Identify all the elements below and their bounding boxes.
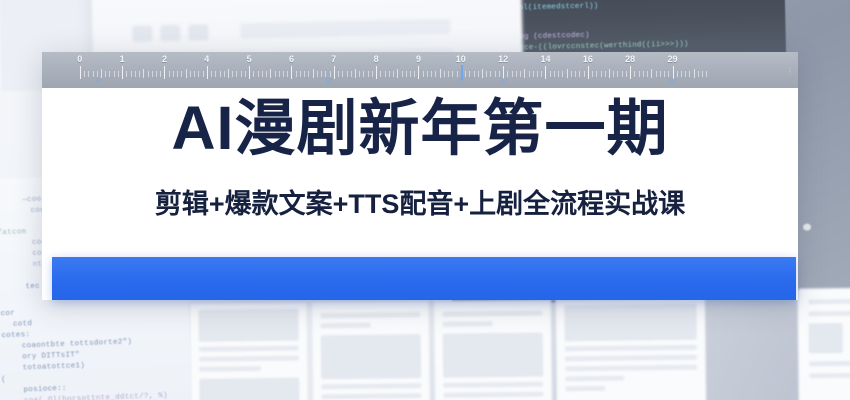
- ruler-major-tick: [291, 66, 292, 79]
- ruler-minor-tick: [414, 71, 415, 77]
- code-line: cotes:: [1, 331, 30, 340]
- ruler-major-tick: [376, 66, 377, 79]
- ruler-minor-tick: [266, 71, 267, 77]
- ruler-minor-tick: [651, 69, 652, 78]
- ruler-major-tick: [80, 66, 81, 79]
- ruler-minor-tick: [681, 71, 682, 77]
- ruler-marker-label: BI: [326, 78, 333, 85]
- ruler-minor-tick: [262, 71, 263, 77]
- ruler-minor-tick: [537, 71, 538, 77]
- ruler-minor-tick: [135, 71, 136, 77]
- code-line: cotd: [13, 320, 32, 329]
- ruler-minor-tick: [482, 69, 483, 78]
- poster-card: ⋮ 012456789101214162829AIBIAIBIBI AI漫剧新年…: [42, 52, 798, 300]
- ruler-minor-tick: [444, 71, 445, 77]
- ruler-minor-tick: [431, 71, 432, 77]
- ruler-minor-tick: [304, 71, 305, 77]
- ruler-minor-tick: [457, 71, 458, 77]
- toolbar-button-icon: [132, 26, 152, 42]
- ruler-major-tick: [207, 66, 208, 79]
- ruler-tick-label: 10: [456, 54, 466, 64]
- ruler-minor-tick: [529, 71, 530, 77]
- ruler-minor-tick: [143, 69, 144, 78]
- document-column: [189, 302, 308, 400]
- ruler-minor-tick: [550, 71, 551, 77]
- ruler-minor-tick: [516, 71, 517, 77]
- ruler-minor-tick: [317, 71, 318, 77]
- ruler-minor-tick: [228, 69, 229, 78]
- ruler-minor-tick: [342, 71, 343, 77]
- ruler-minor-tick: [512, 71, 513, 77]
- ruler-minor-tick: [300, 71, 301, 77]
- ruler-tick-label: 29: [667, 54, 677, 64]
- ruler-major-tick: [418, 66, 419, 79]
- ruler-minor-tick: [321, 71, 322, 77]
- ruler-minor-tick: [435, 71, 436, 77]
- ruler-major-tick: [545, 66, 546, 79]
- ruler-minor-tick: [410, 71, 411, 77]
- ruler-minor-tick: [474, 71, 475, 77]
- accent-bar: [52, 257, 796, 300]
- ruler-minor-tick: [427, 71, 428, 77]
- ruler-major-tick: [249, 66, 250, 79]
- ruler-tick-label: 28: [625, 54, 635, 64]
- ruler-minor-tick: [211, 71, 212, 77]
- ruler-minor-tick: [338, 71, 339, 77]
- document-column: [555, 298, 706, 400]
- ruler-minor-tick: [131, 71, 132, 77]
- ruler-minor-tick: [190, 71, 191, 77]
- toolbar-button-icon: [160, 25, 180, 41]
- ruler-minor-tick: [605, 71, 606, 77]
- ruler-minor-tick: [469, 71, 470, 77]
- ruler-minor-tick: [639, 71, 640, 77]
- ruler-minor-tick: [105, 71, 106, 77]
- ruler-minor-tick: [592, 71, 593, 77]
- ruler-minor-tick: [524, 69, 525, 78]
- ruler-tick-label: 0: [77, 54, 82, 64]
- ruler-minor-tick: [448, 71, 449, 77]
- ruler-minor-tick: [660, 71, 661, 77]
- code-line: —coo: [22, 196, 41, 205]
- poster-subtitle: 剪辑+爆款文案+TTS配音+上剧全流程实战课: [42, 190, 798, 220]
- ruler-minor-tick: [169, 71, 170, 77]
- ruler-minor-tick: [368, 71, 369, 77]
- ruler-minor-tick: [355, 69, 356, 78]
- poster-stage: 13 35 26 77 85 redisnl(itemedstcerl)) <(…: [0, 0, 850, 400]
- poster-title: AI漫剧新年第一期: [42, 98, 798, 159]
- window-toolbar: [132, 24, 208, 42]
- ruler-minor-tick: [393, 71, 394, 77]
- ruler-minor-tick: [275, 71, 276, 77]
- ruler-minor-tick: [126, 71, 127, 77]
- ruler-minor-tick: [236, 71, 237, 77]
- ruler-minor-tick: [351, 71, 352, 77]
- ruler-minor-tick: [689, 71, 690, 77]
- dot-icon: [803, 224, 811, 231]
- ruler-minor-tick: [380, 71, 381, 77]
- ruler-minor-tick: [241, 71, 242, 77]
- ruler-minor-tick: [486, 71, 487, 77]
- ruler-minor-tick: [626, 71, 627, 77]
- ruler-minor-tick: [406, 71, 407, 77]
- ruler-minor-tick: [84, 71, 85, 77]
- ruler-minor-tick: [402, 71, 403, 77]
- ruler-major-tick: [630, 66, 631, 79]
- ruler-minor-tick: [664, 71, 665, 77]
- ruler-minor-tick: [389, 71, 390, 77]
- ruler-minor-tick: [541, 71, 542, 77]
- ruler-minor-tick: [596, 71, 597, 77]
- ruler-minor-tick: [554, 71, 555, 77]
- ruler-major-tick: [334, 66, 335, 79]
- ruler-minor-tick: [440, 69, 441, 78]
- ruler-minor-tick: [148, 71, 149, 77]
- ruler-major-tick: [122, 66, 123, 79]
- document-column: [311, 301, 430, 400]
- background-document-columns: [149, 296, 850, 400]
- ruler-minor-tick: [220, 71, 221, 77]
- code-line: cor: [0, 310, 15, 319]
- ruler-minor-tick: [495, 71, 496, 77]
- ruler-minor-tick: [562, 71, 563, 77]
- ruler-minor-tick: [558, 71, 559, 77]
- ruler-minor-tick: [677, 71, 678, 77]
- ruler-minor-tick: [584, 71, 585, 77]
- ruler-minor-tick: [215, 71, 216, 77]
- ruler-minor-tick: [617, 71, 618, 77]
- ruler-minor-tick: [685, 71, 686, 77]
- ruler-minor-tick: [385, 71, 386, 77]
- ruler-tick-label: 8: [374, 54, 379, 64]
- ruler-minor-tick: [181, 71, 182, 77]
- ruler-tick-label: 14: [540, 54, 550, 64]
- ruler-minor-tick: [571, 71, 572, 77]
- ruler-minor-tick: [287, 71, 288, 77]
- ruler-minor-tick: [698, 71, 699, 77]
- ruler-minor-tick: [575, 71, 576, 77]
- ruler-marker-label: AI: [95, 78, 102, 85]
- ruler-minor-tick: [490, 71, 491, 77]
- code-line: posioce::: [23, 385, 66, 395]
- ruler-minor-tick: [232, 71, 233, 77]
- ruler-minor-tick: [177, 71, 178, 77]
- document-side-card: [797, 287, 850, 400]
- ruler-minor-tick: [270, 69, 271, 78]
- code-line: coaontbte tottsdorte2"): [22, 338, 133, 350]
- ruler-minor-tick: [93, 71, 94, 77]
- ruler-minor-tick: [88, 71, 89, 77]
- ruler-minor-tick: [465, 71, 466, 77]
- ruler-minor-tick: [101, 69, 102, 78]
- ruler-minor-tick: [622, 71, 623, 77]
- ruler-tick-label: 4: [204, 54, 209, 64]
- ruler-minor-tick: [613, 71, 614, 77]
- ruler-minor-tick: [325, 71, 326, 77]
- code-line: ory DITTsIT": [22, 351, 80, 361]
- ruler-minor-tick: [139, 71, 140, 77]
- toolbar-button-icon: [188, 24, 208, 40]
- ruler-minor-tick: [656, 71, 657, 77]
- ruler-minor-tick: [567, 69, 568, 78]
- ruler-major-tick: [588, 66, 589, 79]
- ruler-minor-tick: [397, 69, 398, 78]
- ruler-minor-tick: [198, 71, 199, 77]
- ruler-minor-tick: [347, 71, 348, 77]
- ruler-minor-tick: [363, 71, 364, 77]
- ruler-minor-tick: [308, 71, 309, 77]
- ruler-minor-tick: [478, 71, 479, 77]
- ruler-tick-label: 6: [289, 54, 294, 64]
- ruler-tick-label: 7: [331, 54, 336, 64]
- ruler-tick-label: 1: [120, 54, 125, 64]
- window-toolbar-field: [240, 19, 450, 39]
- ruler-major-tick: [164, 66, 165, 79]
- ruler-minor-tick: [359, 71, 360, 77]
- ruler-minor-tick: [279, 71, 280, 77]
- ruler-minor-tick: [423, 71, 424, 77]
- ruler-minor-tick: [520, 71, 521, 77]
- ruler-overflow-icon: ⋮: [786, 70, 794, 74]
- document-column: [433, 299, 552, 400]
- ruler-minor-tick: [97, 71, 98, 77]
- ruler-minor-tick: [203, 71, 204, 77]
- ruler-minor-tick: [668, 71, 669, 77]
- ruler-tick-label: 2: [162, 54, 167, 64]
- code-line: (: [1, 376, 6, 384]
- ruler-minor-tick: [706, 71, 707, 77]
- ruler-minor-tick: [533, 71, 534, 77]
- ruler[interactable]: ⋮ 012456789101214162829AIBIAIBIBI: [42, 52, 798, 88]
- ruler-minor-tick: [452, 71, 453, 77]
- ruler-tick-label: 5: [247, 54, 252, 64]
- ruler-marker-label: BI: [669, 78, 676, 85]
- ruler-minor-tick: [109, 71, 110, 77]
- ruler-minor-tick: [372, 71, 373, 77]
- code-line: tec: [25, 283, 40, 292]
- ruler-minor-tick: [245, 71, 246, 77]
- ruler-minor-tick: [507, 71, 508, 77]
- ruler-minor-tick: [647, 71, 648, 77]
- ruler-minor-tick: [702, 71, 703, 77]
- ruler-minor-tick: [114, 71, 115, 77]
- ruler-minor-tick: [643, 71, 644, 77]
- code-line: fatcom: [0, 228, 26, 237]
- ruler-minor-tick: [194, 71, 195, 77]
- ruler-minor-tick: [601, 71, 602, 77]
- ruler-tick-label: 9: [416, 54, 421, 64]
- ruler-minor-tick: [694, 69, 695, 78]
- ruler-minor-tick: [313, 69, 314, 78]
- ruler-minor-tick: [499, 71, 500, 77]
- ruler-minor-tick: [186, 69, 187, 78]
- ruler-minor-tick: [258, 71, 259, 77]
- ruler-minor-tick: [224, 71, 225, 77]
- ruler-minor-tick: [253, 71, 254, 77]
- ruler-tick-label: 16: [583, 54, 593, 64]
- ruler-minor-tick: [118, 71, 119, 77]
- ruler-minor-tick: [156, 71, 157, 77]
- ruler-cursor[interactable]: [461, 65, 463, 80]
- ruler-minor-tick: [152, 71, 153, 77]
- code-line: totoatottce1): [23, 362, 86, 372]
- ruler-minor-tick: [634, 71, 635, 77]
- ruler-minor-tick: [296, 71, 297, 77]
- ruler-minor-tick: [579, 71, 580, 77]
- ruler-minor-tick: [283, 71, 284, 77]
- ruler-minor-tick: [173, 71, 174, 77]
- editor-code-line: cnclizce-((lovrccnstec(werthind((ii>>>))…: [496, 40, 689, 52]
- ruler-marker-label: BI: [500, 78, 507, 85]
- ruler-minor-tick: [160, 71, 161, 77]
- ruler-minor-tick: [609, 69, 610, 78]
- ruler-minor-tick: [330, 71, 331, 77]
- ruler-tick-label: 12: [498, 54, 508, 64]
